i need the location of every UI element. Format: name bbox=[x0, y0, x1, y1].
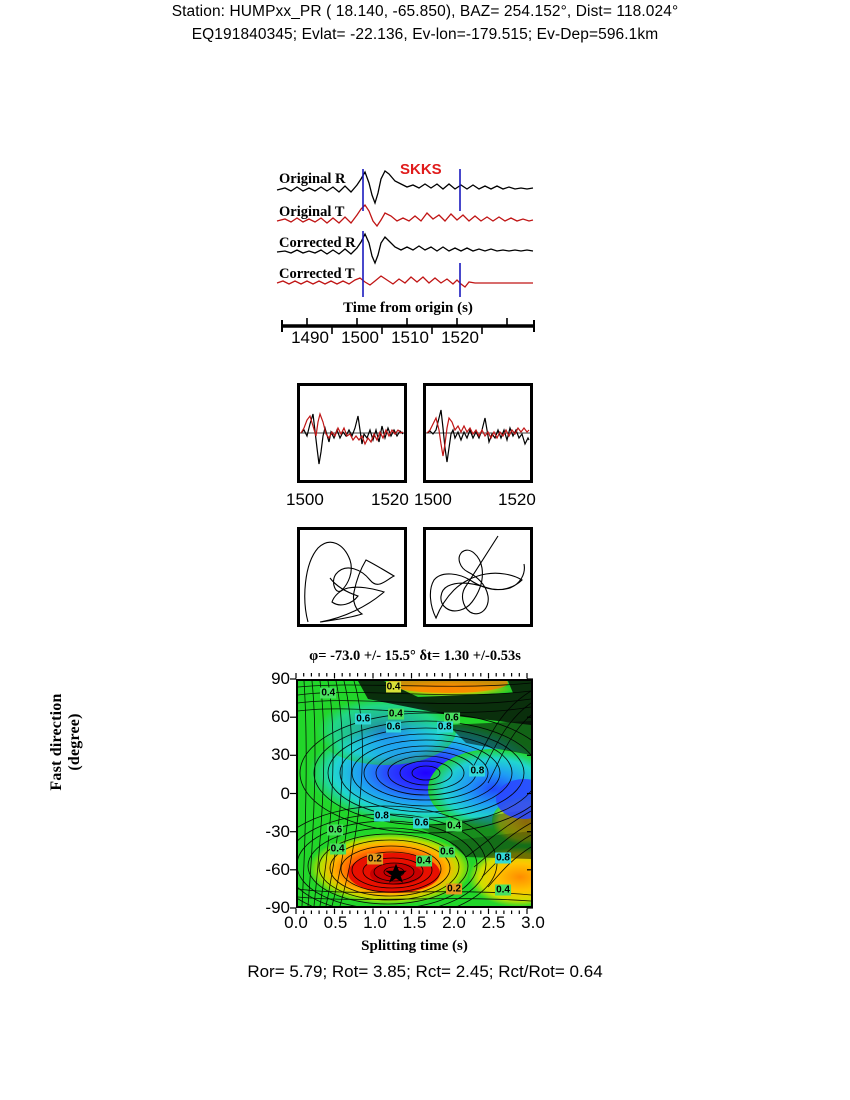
xtick-1p0: 1.0 bbox=[363, 913, 387, 933]
zoom-right-tick-end: 1520 bbox=[498, 490, 536, 510]
xtick-2p0: 2.0 bbox=[442, 913, 466, 933]
hodogram-box-right bbox=[423, 527, 533, 627]
time-tick-1500: 1500 bbox=[341, 328, 379, 348]
ytick-m30: -30 bbox=[265, 822, 290, 842]
waveform-traces bbox=[275, 163, 540, 298]
xtick-1p5: 1.5 bbox=[403, 913, 427, 933]
zoom-waveform-box-right bbox=[423, 383, 533, 483]
xtick-0p0: 0.0 bbox=[284, 913, 308, 933]
zoom-traces-right bbox=[426, 386, 530, 480]
hodogram-box-left bbox=[297, 527, 407, 627]
header-event-line: EQ191840345; Evlat= -22.136, Ev-lon=-179… bbox=[0, 23, 850, 46]
trace-original-r bbox=[277, 171, 533, 203]
time-tick-1520: 1520 bbox=[441, 328, 479, 348]
xtick-3p0: 3.0 bbox=[521, 913, 545, 933]
contour-y-axis-label: Fast direction (degree) bbox=[48, 672, 84, 812]
contour-y-ticks: 90 60 30 0 -30 -60 -90 bbox=[228, 679, 290, 908]
header-station-line: Station: HUMPxx_PR ( 18.140, -65.850), B… bbox=[0, 0, 850, 23]
xtick-2p5: 2.5 bbox=[482, 913, 506, 933]
waveform-panel: SKKS Original R Original T Corrected R C… bbox=[275, 163, 540, 298]
time-axis: Time from origin (s) 1490 1500 1510 1520 bbox=[278, 300, 538, 358]
contour-axis-ticks bbox=[288, 671, 543, 919]
xtick-0p5: 0.5 bbox=[324, 913, 348, 933]
trace-corrected-t bbox=[277, 276, 533, 287]
hodogram-left-path bbox=[300, 530, 404, 624]
zoom-right-tick-start: 1500 bbox=[414, 490, 452, 510]
zoom-waveform-box-left bbox=[297, 383, 407, 483]
time-tick-1510: 1510 bbox=[391, 328, 429, 348]
trace-corrected-r bbox=[277, 234, 533, 263]
trace-original-t bbox=[277, 205, 533, 226]
ytick-m60: -60 bbox=[265, 860, 290, 880]
figure-header: Station: HUMPxx_PR ( 18.140, -65.850), B… bbox=[0, 0, 850, 46]
contour-x-ticks: 0.0 0.5 1.0 1.5 2.0 2.5 3.0 bbox=[296, 913, 533, 937]
contour-plot-title: φ= -73.0 +/- 15.5° δt= 1.30 +/-0.53s bbox=[255, 648, 575, 665]
zoom-left-tick-start: 1500 bbox=[286, 490, 324, 510]
zoom-traces-left bbox=[300, 386, 404, 480]
zoom-left-tick-end: 1520 bbox=[371, 490, 409, 510]
hodogram-right-path bbox=[426, 530, 530, 624]
time-tick-1490: 1490 bbox=[291, 328, 329, 348]
contour-x-axis-label: Splitting time (s) bbox=[296, 938, 533, 955]
quality-metrics-line: Ror= 5.79; Rot= 3.85; Rct= 2.45; Rct/Rot… bbox=[0, 962, 850, 982]
